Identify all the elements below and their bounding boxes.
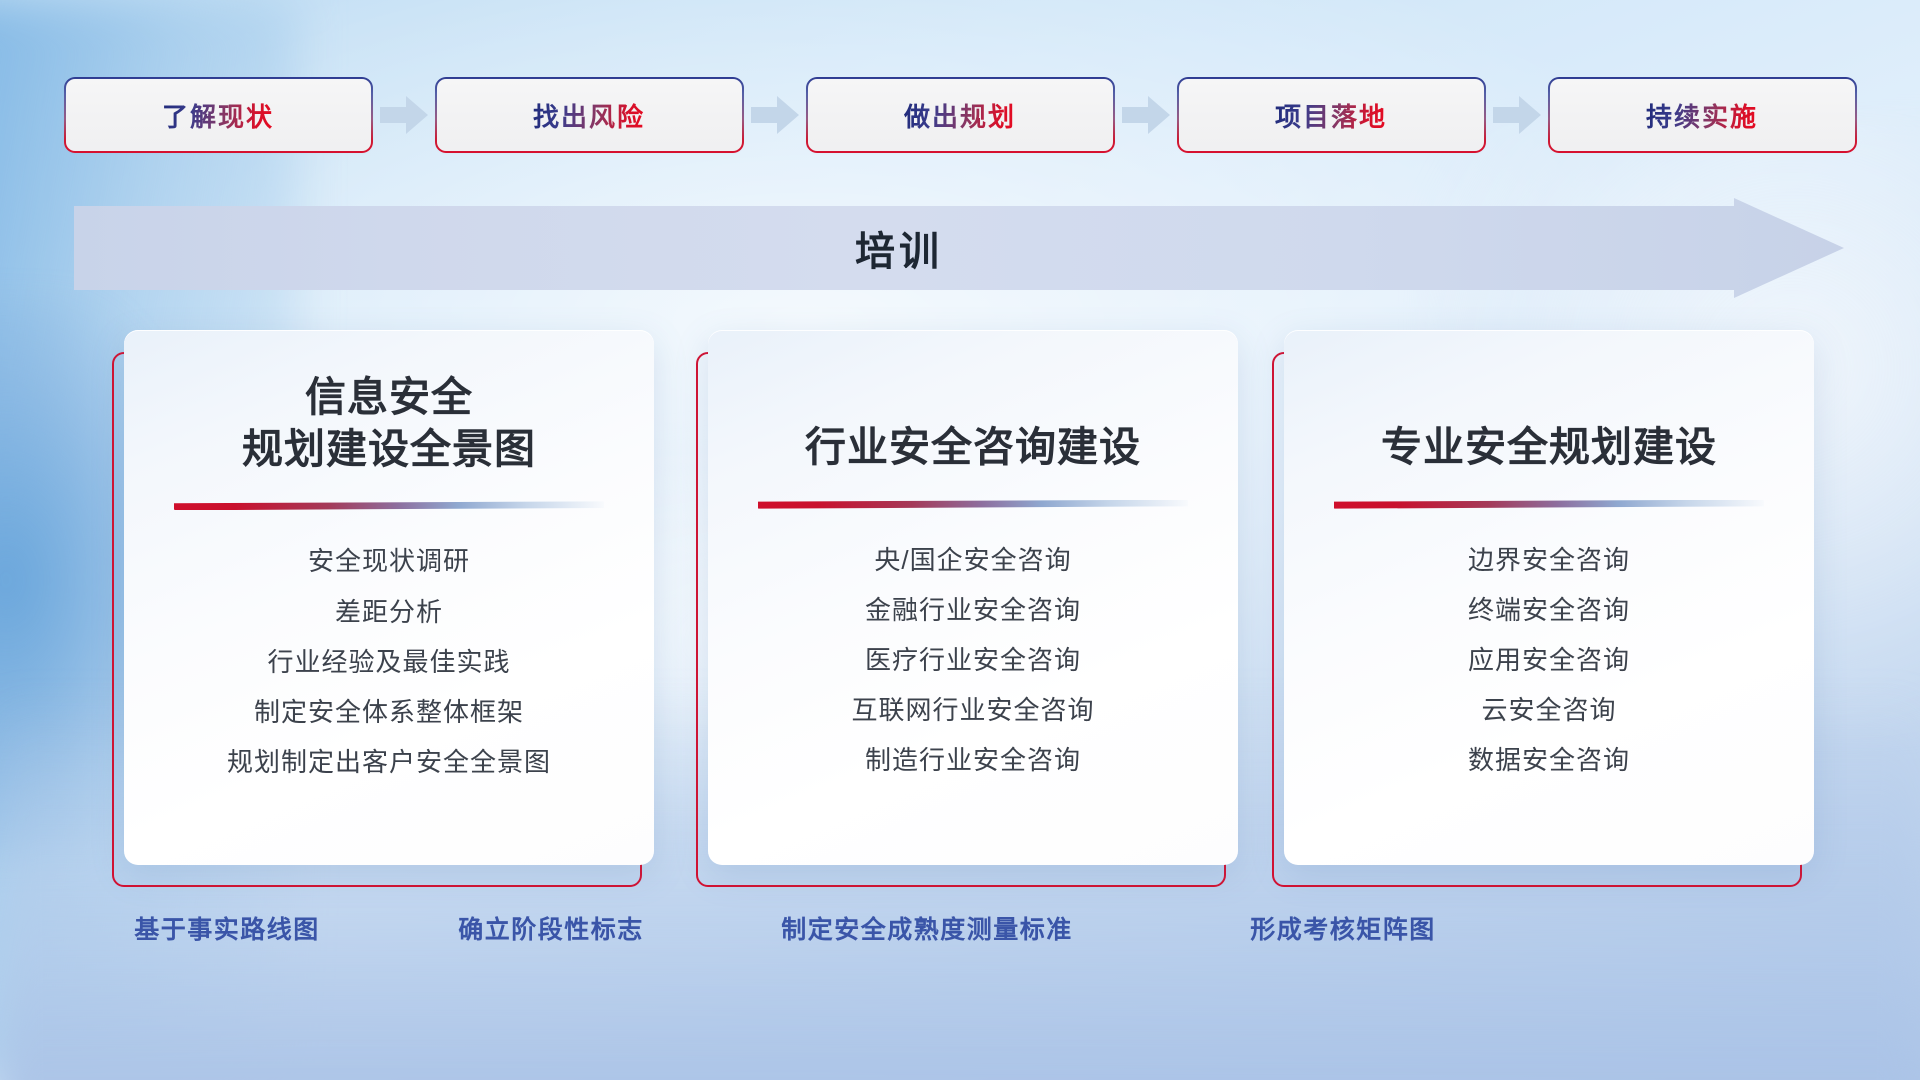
card-item: 应用安全咨询 [1468,645,1630,676]
card-title: 信息安全 规划建设全景图 [242,372,536,475]
pipeline-stage-label: 找出风险 [533,97,645,134]
pipeline-stage-label: 持续实施 [1646,97,1758,134]
card-group: 信息安全 规划建设全景图 安全现状调研 差距分析 行业经验及最佳实践 制定安全体… [0,330,1920,890]
arrow-right-icon [1113,78,1179,152]
card-item: 行业经验及最佳实践 [267,647,510,678]
card-divider [758,500,1188,509]
card-divider [1334,500,1764,509]
pipeline-stage-4[interactable]: 项目落地 [1179,79,1484,151]
card-item: 终端安全咨询 [1468,595,1630,626]
pipeline-stage-3[interactable]: 做出规划 [808,79,1113,151]
process-pipeline: 了解现状 找出风险 做出规划 项目落地 持续实施 [0,78,1920,152]
card-item: 金融行业安全咨询 [865,595,1081,626]
training-banner-label: 培训 [74,198,1724,298]
card-item-list: 安全现状调研 差距分析 行业经验及最佳实践 制定安全体系整体框架 规划制定出客户… [158,546,620,778]
card-item: 互联网行业安全咨询 [851,695,1094,726]
outcome-label-3: 制定安全成熟度测量标准 [712,910,1142,946]
card-item: 规划制定出客户安全全景图 [227,747,551,778]
card-item: 数据安全咨询 [1468,745,1630,776]
card-divider [174,501,604,510]
pipeline-stage-1[interactable]: 了解现状 [66,79,371,151]
pipeline-stage-2[interactable]: 找出风险 [437,79,742,151]
card-item: 制造行业安全咨询 [865,745,1081,776]
outcome-label-row: 基于事实路线图 确立阶段性标志 制定安全成熟度测量标准 形成考核矩阵图 [0,910,1920,970]
card-item-list: 边界安全咨询 终端安全咨询 应用安全咨询 云安全咨询 数据安全咨询 [1318,545,1780,777]
outcome-label-4: 形成考核矩阵图 [1158,910,1528,946]
outcome-label-1: 基于事实路线图 [72,910,382,946]
card-body[interactable]: 信息安全 规划建设全景图 安全现状调研 差距分析 行业经验及最佳实践 制定安全体… [124,330,654,865]
card-body[interactable]: 行业安全咨询建设 央/国企安全咨询 金融行业安全咨询 医疗行业安全咨询 互联网行… [708,330,1238,865]
card-title: 行业安全咨询建设 [805,422,1141,474]
training-banner: 培训 [74,198,1844,298]
card-body[interactable]: 专业安全规划建设 边界安全咨询 终端安全咨询 应用安全咨询 云安全咨询 数据安全… [1284,330,1814,865]
card-item: 边界安全咨询 [1468,545,1630,576]
card-3[interactable]: 专业安全规划建设 边界安全咨询 终端安全咨询 应用安全咨询 云安全咨询 数据安全… [1272,330,1802,890]
card-2[interactable]: 行业安全咨询建设 央/国企安全咨询 金融行业安全咨询 医疗行业安全咨询 互联网行… [696,330,1226,890]
arrow-right-icon [742,78,808,152]
card-item: 央/国企安全咨询 [874,545,1071,576]
card-item: 医疗行业安全咨询 [865,645,1081,676]
card-1[interactable]: 信息安全 规划建设全景图 安全现状调研 差距分析 行业经验及最佳实践 制定安全体… [112,330,642,890]
card-item: 制定安全体系整体框架 [254,697,524,728]
pipeline-stage-label: 项目落地 [1275,97,1387,134]
card-item: 安全现状调研 [308,546,470,577]
card-item: 云安全咨询 [1481,695,1616,726]
outcome-label-2: 确立阶段性标志 [396,910,706,946]
pipeline-stage-label: 做出规划 [904,97,1016,134]
card-item: 差距分析 [335,597,443,628]
arrow-right-icon [371,78,437,152]
card-title: 专业安全规划建设 [1381,422,1717,474]
arrow-right-icon [1484,78,1550,152]
pipeline-stage-5[interactable]: 持续实施 [1550,79,1855,151]
pipeline-stage-label: 了解现状 [162,97,274,134]
card-item-list: 央/国企安全咨询 金融行业安全咨询 医疗行业安全咨询 互联网行业安全咨询 制造行… [742,545,1204,777]
